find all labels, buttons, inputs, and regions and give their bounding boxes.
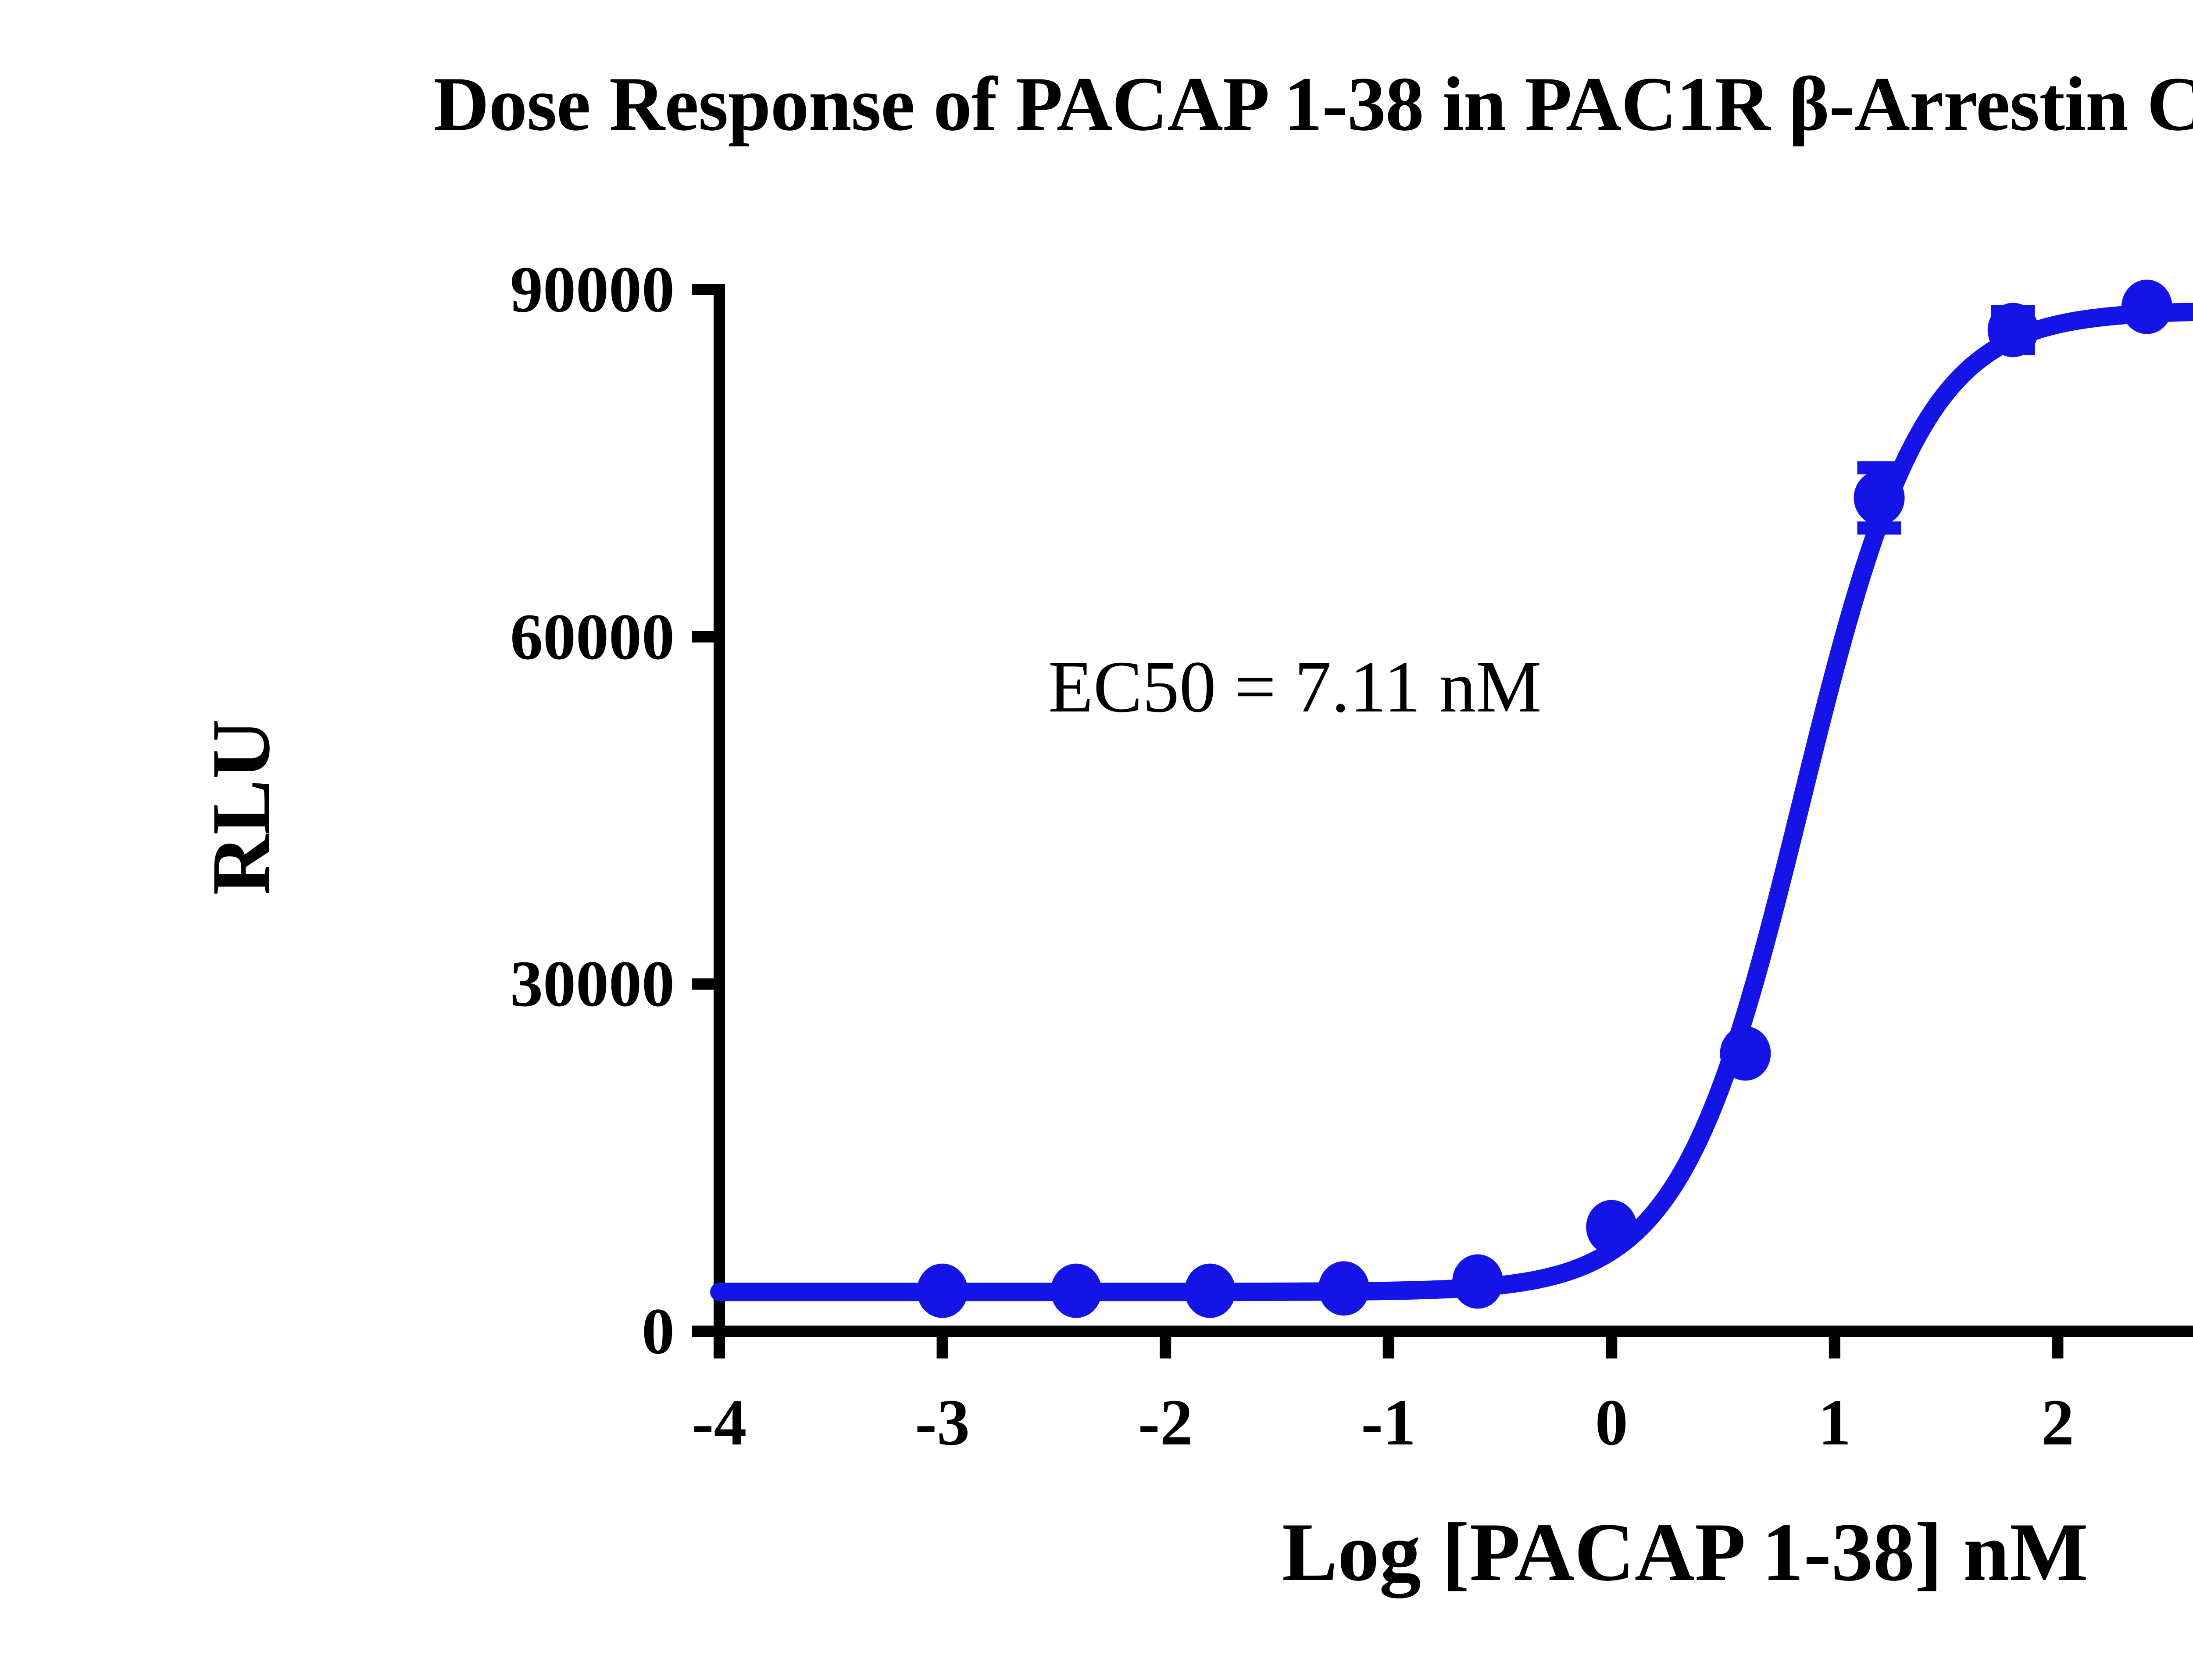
data-point-marker [1452, 1255, 1503, 1309]
chart-root: Dose Response of PACAP 1-38 in PAC1R β-A… [0, 0, 2193, 1680]
y-tick-label-1: 30000 [0, 946, 675, 1022]
data-point-marker [1586, 1200, 1637, 1255]
data-point-marker [1988, 303, 2039, 357]
data-point-marker [1720, 1026, 1771, 1081]
x-tick-label-3: -1 [1361, 1385, 1416, 1460]
fit-curve [719, 311, 2193, 1292]
data-point-marker [1051, 1264, 1102, 1318]
x-tick-label-6: 2 [2041, 1385, 2074, 1460]
x-tick-label-2: -2 [1138, 1385, 1193, 1460]
x-tick-label-5: 1 [1818, 1385, 1851, 1460]
data-point-marker [1318, 1261, 1369, 1315]
y-tick-label-0: 0 [0, 1294, 675, 1369]
data-point-marker [917, 1264, 968, 1318]
y-tick-label-2: 60000 [0, 599, 675, 675]
data-point-marker [2122, 280, 2172, 334]
plot-area: 0300006000090000 -4-3-2-10123 [0, 0, 2193, 1680]
series-group [719, 280, 2193, 1318]
data-point-marker [1185, 1264, 1236, 1318]
axis-group [692, 284, 2193, 1358]
x-axis-title: Log [PACAP 1-38] nM [0, 1505, 2193, 1600]
x-tick-label-4: 0 [1595, 1385, 1628, 1460]
x-tick-label-1: -3 [915, 1385, 970, 1460]
x-tick-label-0: -4 [692, 1385, 747, 1460]
ec50-annotation: EC50 = 7.11 nM [1048, 645, 1542, 729]
y-axis-title: RLU [193, 719, 289, 895]
data-point-marker [1854, 471, 1905, 525]
y-tick-label-3: 90000 [0, 252, 675, 327]
